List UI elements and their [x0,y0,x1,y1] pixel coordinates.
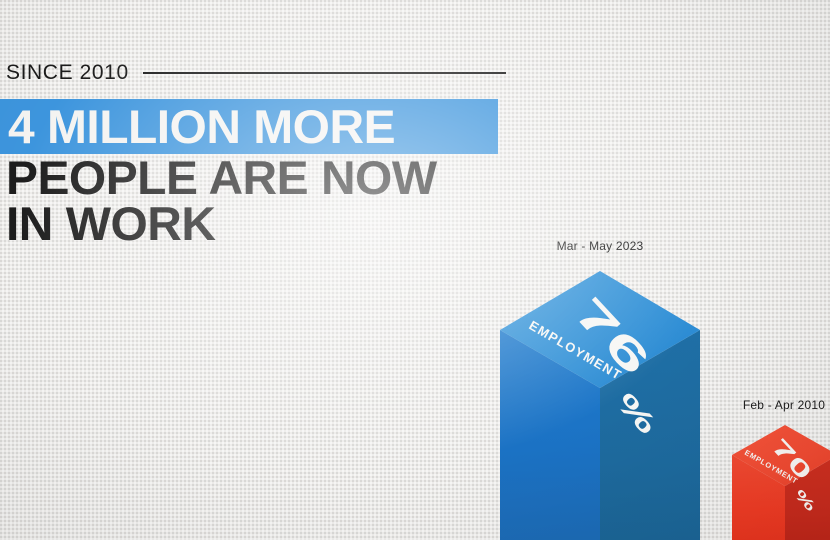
headline-line-2: PEOPLE ARE NOW [6,155,536,201]
kicker-row: SINCE 2010 [6,58,506,88]
headline-line-3: IN WORK [6,201,536,247]
bar-2023-period-label: Mar - May 2023 [520,239,680,253]
infographic-canvas: SINCE 2010 4 MILLION MORE PEOPLE ARE NOW… [0,0,830,540]
headline-rest: PEOPLE ARE NOW IN WORK [6,155,536,247]
headline-line-1: 4 MILLION MORE [8,99,516,154]
bar-2023: 76 % EMPLOYMENT [498,266,704,540]
bar-2010-period-label: Feb - Apr 2010 [724,398,830,412]
kicker-rule [143,72,506,74]
bar-2010: 70 % EMPLOYMENT [730,422,830,540]
kicker-text: SINCE 2010 [6,61,129,85]
